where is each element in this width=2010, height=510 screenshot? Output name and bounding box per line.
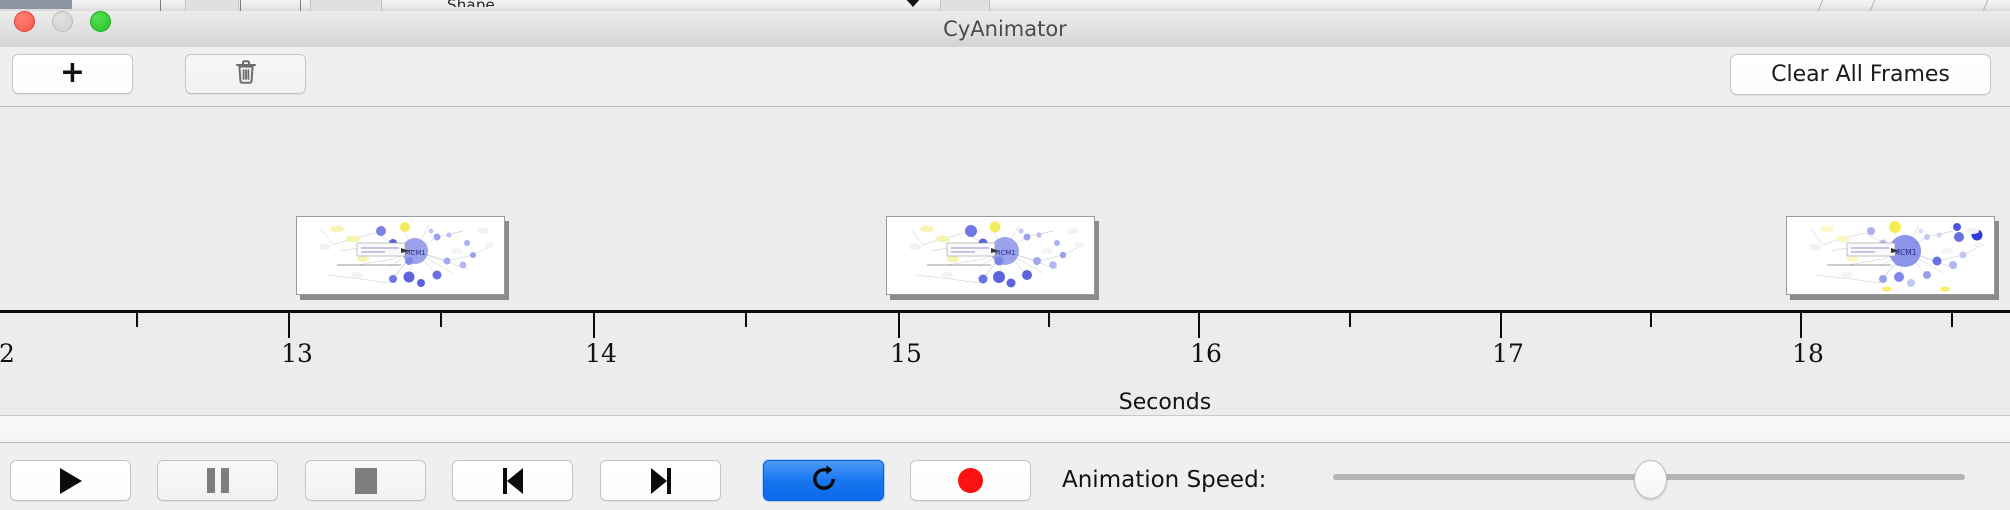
cyanimator-window: Shape CyAnimator + Clear All Frames [0, 0, 2010, 510]
axis-label-16: 16 [1190, 339, 1222, 368]
axis-tick-minor [745, 313, 747, 327]
axis-label-13: 13 [281, 339, 313, 368]
background-arrow-icon [905, 0, 921, 7]
skip-back-icon [503, 468, 523, 494]
animation-speed-label: Animation Speed: [1062, 467, 1266, 493]
axis-label-17: 17 [1492, 339, 1524, 368]
axis-title-label: Seconds [1119, 390, 1211, 415]
clear-all-frames-label: Clear All Frames [1771, 62, 1950, 87]
axis-tick-minor [1349, 313, 1351, 327]
clear-all-frames-button[interactable]: Clear All Frames [1730, 54, 1991, 95]
axis-tick-minor [440, 313, 442, 327]
loop-button[interactable] [763, 460, 884, 501]
background-cell [940, 0, 990, 11]
record-icon [958, 468, 983, 493]
svg-text:MCM1: MCM1 [994, 249, 1015, 257]
thumbnail-image: MCM1 [1786, 216, 1995, 295]
next-frame-button[interactable] [600, 460, 721, 501]
timeline-panel[interactable]: MCM1 [0, 107, 2010, 416]
frame-thumbnail-2[interactable]: MCM1 [886, 216, 1099, 300]
background-cell [310, 0, 382, 11]
axis-label-18: 18 [1792, 339, 1824, 368]
frame-thumbnail-3[interactable]: MCM1 [1786, 216, 1999, 300]
background-divider [1870, 0, 1875, 11]
axis-tick-minor [1650, 313, 1652, 327]
thumbnail-image: MCM1 [886, 216, 1095, 295]
background-selected-tab [0, 0, 72, 9]
animation-speed-slider-thumb[interactable] [1634, 460, 1667, 499]
previous-frame-button[interactable] [452, 460, 573, 501]
play-icon [60, 468, 82, 494]
plus-icon: + [60, 58, 85, 88]
delete-frame-button[interactable] [185, 54, 306, 94]
record-button[interactable] [910, 460, 1031, 501]
frame-thumbnail-1[interactable]: MCM1 [296, 216, 509, 300]
stop-button[interactable] [305, 460, 426, 501]
background-divider [1983, 0, 1988, 11]
background-tick [160, 0, 161, 11]
axis-tick-major [1500, 313, 1502, 338]
axis-tick-major [288, 313, 290, 338]
axis-tick-minor [1951, 313, 1953, 327]
axis-tick-minor [1048, 313, 1050, 327]
axis-tick-minor [136, 313, 138, 327]
trash-icon [234, 59, 258, 89]
axis-tick-major [593, 313, 595, 338]
thumbnail-image: MCM1 [296, 216, 505, 295]
pause-button[interactable] [157, 460, 278, 501]
window-title: CyAnimator [0, 11, 2010, 47]
loop-icon [809, 464, 839, 498]
background-divider [1818, 0, 1823, 11]
skip-forward-icon [651, 468, 671, 494]
axis-tick-major [1198, 313, 1200, 338]
timeline-axis [0, 310, 2010, 313]
axis-label-14: 14 [585, 339, 617, 368]
axis-tick-major [1800, 313, 1802, 338]
background-cell [185, 0, 239, 11]
play-button[interactable] [10, 460, 131, 501]
stop-icon [355, 468, 377, 494]
background-tick [240, 0, 241, 11]
axis-tick-major [898, 313, 900, 338]
axis-label-15: 15 [890, 339, 922, 368]
add-frame-button[interactable]: + [12, 54, 133, 94]
background-tick [300, 0, 301, 11]
background-shape-label: Shape [447, 0, 495, 7]
axis-label-12: 12 [0, 339, 15, 368]
timeline-scrollbar-track[interactable] [0, 416, 2010, 443]
svg-text:MCM1: MCM1 [1894, 248, 1917, 257]
pause-icon [207, 468, 229, 493]
axis-title: Seconds [0, 390, 2010, 415]
